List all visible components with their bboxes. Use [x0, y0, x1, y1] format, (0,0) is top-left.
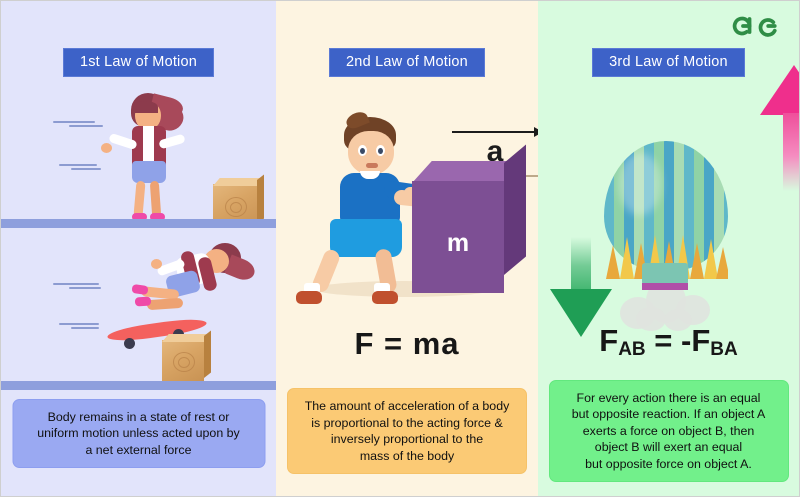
hand-left — [101, 143, 112, 153]
caption-line: but opposite reaction. If an object A — [558, 406, 780, 422]
newtons-laws-infographic: 1st Law of Motion — [0, 0, 800, 497]
pupil-left — [360, 148, 365, 154]
caption-line: is proportional to the acting force & — [296, 415, 518, 431]
balloon-band — [642, 283, 688, 290]
ground-line-upper — [1, 219, 276, 228]
speed-line — [71, 168, 101, 170]
speed-line — [59, 164, 97, 166]
box-side-face — [504, 145, 526, 275]
speed-line — [53, 121, 95, 123]
skateboard-wheel — [124, 338, 135, 349]
up-arrow-head-icon — [760, 65, 799, 115]
caption-third-law: For every action there is an equal but o… — [549, 380, 789, 482]
ground-line-lower — [1, 381, 276, 390]
balloon-skirt — [642, 263, 688, 285]
caption-line: exerts a force on object B, then — [558, 423, 780, 439]
balloon-panel — [620, 237, 634, 279]
shorts — [330, 219, 402, 257]
title-banner-third-law: 3rd Law of Motion — [592, 48, 745, 77]
up-arrow-shaft — [783, 113, 799, 191]
balloon-highlight — [618, 153, 662, 215]
speed-line — [69, 125, 103, 127]
leg-left — [133, 181, 145, 218]
wood-grain — [178, 357, 190, 368]
pupil-right — [378, 148, 383, 154]
formula-operator: = — [654, 323, 672, 358]
shoe-front — [372, 291, 398, 304]
caption-line: object B will exert an equal — [558, 439, 780, 455]
fringe — [132, 101, 158, 113]
caption-line: a net external force — [21, 442, 256, 458]
formula-left-main: F — [599, 323, 618, 358]
title-banner-second-law: 2nd Law of Motion — [329, 48, 485, 77]
speed-line — [53, 283, 99, 285]
shoe-back — [296, 291, 322, 304]
panel-first-law: 1st Law of Motion — [1, 1, 276, 496]
balloon-panel — [690, 243, 704, 279]
wood-grain — [230, 202, 242, 213]
title-banner-wrap-first-law: 1st Law of Motion — [1, 48, 276, 77]
wood-side — [204, 331, 211, 378]
caption-line: but opposite force on object A. — [558, 456, 780, 472]
caption-line: For every action there is an equal — [558, 390, 780, 406]
title-banner-wrap-second-law: 2nd Law of Motion — [276, 48, 538, 77]
mouth — [366, 163, 378, 168]
caption-line: Body remains in a state of rest or — [21, 409, 256, 425]
formula-third-law: FAB = -FBA — [538, 323, 799, 361]
formula-right-sub: BA — [710, 339, 737, 360]
speed-line — [71, 327, 99, 329]
panel-second-law: 2nd Law of Motion a — [276, 1, 538, 496]
title-banner-first-law: 1st Law of Motion — [63, 48, 214, 77]
shorts — [132, 161, 166, 183]
wood-side — [257, 175, 264, 224]
caption-line: mass of the body — [296, 448, 518, 464]
balloon-panel — [716, 247, 728, 279]
shoe-right — [135, 296, 152, 306]
speed-line — [59, 323, 99, 325]
caption-first-law: Body remains in a state of rest or unifo… — [12, 399, 265, 468]
caption-line: The amount of acceleration of a body — [296, 398, 518, 414]
balloon-panel — [606, 245, 620, 279]
caption-line: inversely proportional to the — [296, 431, 518, 447]
caption-line: uniform motion unless acted upon by — [21, 425, 256, 441]
panel-third-law: 3rd Law of Motion — [538, 1, 799, 496]
caption-second-law: The amount of acceleration of a body is … — [287, 388, 527, 474]
hand-left — [151, 259, 162, 269]
mass-label: m — [412, 229, 504, 258]
acceleration-arrow-shaft — [452, 131, 538, 133]
formula-left-sub: AB — [618, 339, 645, 360]
leg-right — [150, 181, 161, 218]
formula-right-main: -F — [681, 323, 710, 358]
speed-line — [69, 287, 101, 289]
geeksforgeeks-logo — [729, 11, 785, 41]
formula-second-law: F = ma — [276, 326, 538, 362]
face — [348, 131, 394, 175]
